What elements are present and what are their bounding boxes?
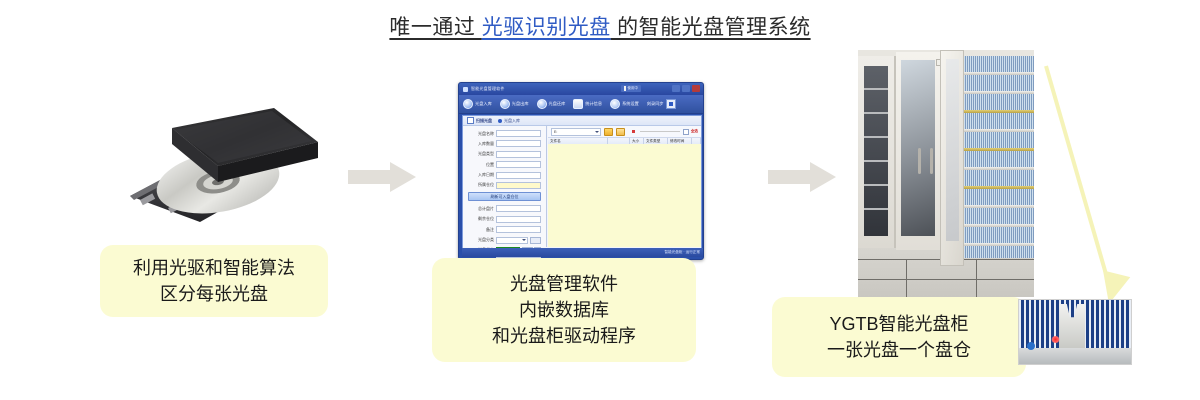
field-remark[interactable]: 备注 bbox=[468, 226, 541, 233]
new-category-button[interactable] bbox=[530, 237, 541, 244]
toolbar-label: 系统设置 bbox=[622, 101, 639, 107]
door-pane bbox=[946, 59, 959, 241]
disc-type-input[interactable] bbox=[496, 151, 541, 158]
optical-drive-illustration bbox=[122, 104, 322, 226]
status-badge-label: 使用中 bbox=[628, 86, 639, 91]
field-in-quantity[interactable]: 入库数量 bbox=[468, 140, 541, 147]
callout-middle-line1: 光盘管理软件 bbox=[510, 271, 618, 297]
disc-shelf-stack bbox=[964, 56, 1034, 258]
toolbar-item-settings[interactable]: 系统设置 bbox=[606, 99, 643, 109]
total-discs-value bbox=[496, 205, 541, 212]
cabinet-left-unit bbox=[858, 56, 896, 248]
status-badge: 使用中 bbox=[621, 85, 642, 92]
tab-strip[interactable]: 扫描光盘 光盘入库 bbox=[463, 116, 701, 126]
window-body: 扫描光盘 光盘入库 光盘名称 入库数量 光盘类型 bbox=[462, 115, 702, 249]
status-mark-icon bbox=[624, 86, 626, 91]
field-label: 入库日期 bbox=[468, 172, 494, 178]
toolbar-label: 统计信息 bbox=[585, 101, 602, 107]
toolbar-item-burn[interactable]: 刻录同步 bbox=[643, 99, 680, 109]
field-label: 总计盘片 bbox=[468, 206, 494, 212]
title-part1: 唯一通过 bbox=[389, 16, 481, 39]
in-date-input[interactable] bbox=[496, 172, 541, 179]
callout-left-line2: 区分每张光盘 bbox=[160, 281, 268, 307]
gear-icon bbox=[610, 99, 620, 109]
status-bar: 智能光盘柜 · 运行正常 bbox=[462, 248, 704, 257]
field-label: 光盘分类 bbox=[468, 237, 494, 243]
disc-cabinet-photo bbox=[858, 50, 1034, 297]
flow-arrow-1 bbox=[348, 160, 418, 199]
disc-icon bbox=[498, 119, 502, 123]
field-position[interactable]: 位置 bbox=[468, 161, 541, 168]
select-all-checkbox[interactable]: 全选 bbox=[683, 129, 698, 135]
toolbar-item-disc-out[interactable]: 光盘出库 bbox=[496, 99, 533, 109]
field-in-date[interactable]: 入库日期 bbox=[468, 172, 541, 179]
disc-out-icon bbox=[500, 99, 510, 109]
toolbar-item-disc-in[interactable]: 光盘入库 bbox=[459, 99, 496, 109]
field-label: 位置 bbox=[468, 162, 494, 168]
toolbar-item-report[interactable]: 统计信息 bbox=[569, 99, 606, 109]
slide-canvas: 唯一通过 光驱识别光盘 的智能光盘管理系统 bbox=[0, 0, 1200, 400]
window-title: 智能光盘管理软件 bbox=[471, 86, 505, 92]
app-icon bbox=[463, 87, 468, 92]
position-input[interactable] bbox=[496, 161, 541, 168]
refresh-slots-label: 刷新可入盘仓位 bbox=[491, 194, 519, 200]
field-label: 光盘类型 bbox=[468, 151, 494, 157]
refresh-slots-button[interactable]: 刷新可入盘仓位 bbox=[468, 192, 541, 201]
drive-path-select[interactable]: E: bbox=[551, 128, 601, 136]
flow-arrow-2 bbox=[768, 160, 838, 199]
disc-return-icon bbox=[537, 99, 547, 109]
toolbar-label: 光盘出库 bbox=[512, 101, 529, 107]
callout-left: 利用光驱和智能算法 区分每张光盘 bbox=[100, 245, 328, 317]
remark-input[interactable] bbox=[496, 226, 541, 233]
software-window[interactable]: 智能光盘管理软件 使用中 光盘入库 光盘出库 光盘还库 bbox=[458, 82, 704, 260]
disc-name-input[interactable] bbox=[496, 130, 541, 137]
toolbar-label: 刻录同步 bbox=[647, 101, 664, 107]
inset-base bbox=[1019, 348, 1131, 364]
callout-left-line1: 利用光驱和智能算法 bbox=[133, 255, 295, 281]
optical-drive-photo bbox=[122, 104, 322, 226]
field-free-slots: 剩余仓位 bbox=[468, 216, 541, 223]
title-part2: 的智能光盘管理系统 bbox=[611, 16, 811, 39]
disc-category-select[interactable] bbox=[496, 237, 528, 244]
toolbar-label: 光盘还库 bbox=[549, 101, 566, 107]
minimize-button[interactable] bbox=[672, 85, 680, 92]
path-divider bbox=[640, 131, 680, 132]
select-all-label: 全选 bbox=[691, 129, 698, 134]
callout-right: YGTB智能光盘柜 一张光盘一个盘仓 bbox=[772, 297, 1026, 377]
blue-indicator-icon bbox=[1027, 342, 1035, 350]
field-label: 入库数量 bbox=[468, 141, 494, 147]
in-quantity-input[interactable] bbox=[496, 140, 541, 147]
tab-label: 扫描光盘 bbox=[476, 118, 492, 124]
field-total-discs: 总计盘片 bbox=[468, 205, 541, 212]
laser-indicator-icon bbox=[1051, 336, 1060, 343]
disc-in-icon bbox=[463, 99, 473, 109]
file-list[interactable] bbox=[548, 144, 701, 247]
open-glass-door[interactable] bbox=[940, 50, 964, 266]
field-label: 所属仓位 bbox=[468, 182, 494, 188]
close-button[interactable] bbox=[692, 85, 700, 92]
tab-scan-disc[interactable]: 扫描光盘 bbox=[467, 117, 492, 124]
callout-middle-line2: 内嵌数据库 bbox=[519, 297, 609, 323]
field-slot[interactable]: 所属仓位 bbox=[468, 182, 541, 189]
burn-icon bbox=[666, 99, 676, 109]
checkbox-icon bbox=[683, 129, 689, 135]
file-browser-panel[interactable]: E: 全选 文件名 大小 文件类型 修改时间 bbox=[548, 126, 701, 247]
slot-input[interactable] bbox=[496, 182, 541, 189]
tab-label: 光盘入库 bbox=[504, 118, 520, 124]
field-label: 备注 bbox=[468, 227, 494, 233]
page-title: 唯一通过 光驱识别光盘 的智能光盘管理系统 bbox=[0, 14, 1200, 42]
field-label: 光盘名称 bbox=[468, 131, 494, 137]
tab-disc-in[interactable]: 光盘入库 bbox=[498, 118, 520, 124]
status-bar-text: 智能光盘柜 · 运行正常 bbox=[664, 250, 700, 255]
main-toolbar[interactable]: 光盘入库 光盘出库 光盘还库 统计信息 系统设置 刻录同步 bbox=[459, 95, 703, 114]
field-disc-name[interactable]: 光盘名称 bbox=[468, 130, 541, 137]
report-icon bbox=[573, 99, 583, 109]
scan-icon bbox=[467, 117, 474, 124]
left-glass-door bbox=[864, 66, 888, 236]
door-handle-left[interactable] bbox=[918, 148, 921, 174]
window-titlebar: 智能光盘管理软件 使用中 bbox=[459, 83, 703, 95]
path-toolbar[interactable]: E: 全选 bbox=[548, 126, 701, 138]
door-handle-right[interactable] bbox=[930, 148, 933, 174]
callout-right-line1: YGTB智能光盘柜 bbox=[829, 311, 968, 337]
title-accent: 光驱识别光盘 bbox=[482, 16, 611, 39]
folder-closed-icon[interactable] bbox=[604, 128, 613, 136]
cabinet-middle-unit bbox=[896, 52, 940, 250]
toolbar-label: 光盘入库 bbox=[475, 101, 492, 107]
free-slots-value bbox=[496, 216, 541, 223]
callout-middle-line3: 和光盘柜驱动程序 bbox=[492, 323, 636, 349]
slot-detail-inset-photo bbox=[1019, 300, 1131, 364]
callout-right-line2: 一张光盘一个盘仓 bbox=[827, 337, 971, 363]
maximize-button[interactable] bbox=[682, 85, 690, 92]
toolbar-item-disc-return[interactable]: 光盘还库 bbox=[533, 99, 570, 109]
form-panel[interactable]: 光盘名称 入库数量 光盘类型 位置 入库日期 bbox=[463, 126, 547, 247]
folder-open-icon[interactable] bbox=[616, 128, 625, 136]
window-controls[interactable] bbox=[672, 85, 700, 92]
field-disc-category[interactable]: 光盘分类 bbox=[468, 237, 541, 244]
detail-pointer-arrow bbox=[1030, 60, 1140, 315]
field-disc-type[interactable]: 光盘类型 bbox=[468, 151, 541, 158]
stop-icon[interactable] bbox=[632, 130, 635, 133]
field-label: 剩余仓位 bbox=[468, 216, 494, 222]
callout-middle: 光盘管理软件 内嵌数据库 和光盘柜驱动程序 bbox=[432, 258, 696, 362]
